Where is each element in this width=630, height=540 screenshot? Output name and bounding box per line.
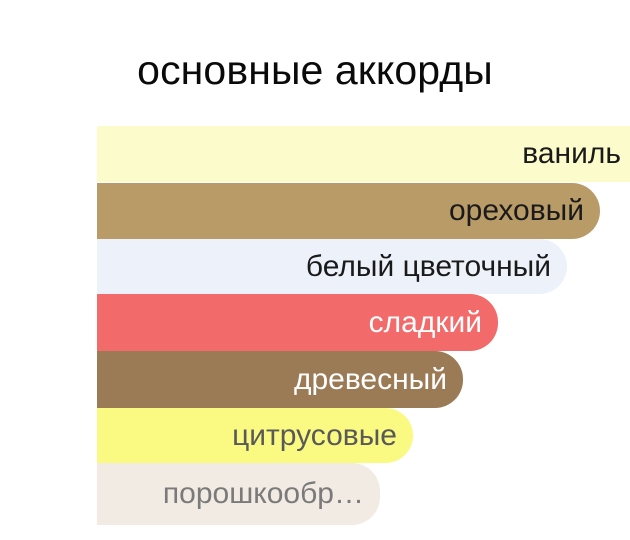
bars-container: ваниль ореховый белый цветочный сладкий …: [0, 0, 630, 540]
bar-row[interactable]: ваниль: [0, 126, 630, 182]
bar-row[interactable]: цитрусовые: [0, 408, 630, 463]
bar-row[interactable]: белый цветочный: [0, 239, 630, 294]
bar-label: сладкий: [97, 294, 498, 351]
bar-row[interactable]: древесный: [0, 351, 630, 408]
bar-label: цитрусовые: [97, 408, 413, 463]
funnel-chart: основные аккорды ваниль ореховый белый ц…: [0, 0, 630, 540]
bar-row[interactable]: сладкий: [0, 294, 630, 351]
bar-row[interactable]: ореховый: [0, 183, 630, 239]
bar-row[interactable]: порошкообр…: [0, 463, 630, 525]
bar-label: ореховый: [97, 183, 600, 239]
bar-label: порошкообр…: [97, 463, 380, 525]
bar-label: белый цветочный: [97, 239, 567, 294]
bar-label: древесный: [97, 351, 463, 408]
bar-label: ваниль: [97, 126, 630, 182]
